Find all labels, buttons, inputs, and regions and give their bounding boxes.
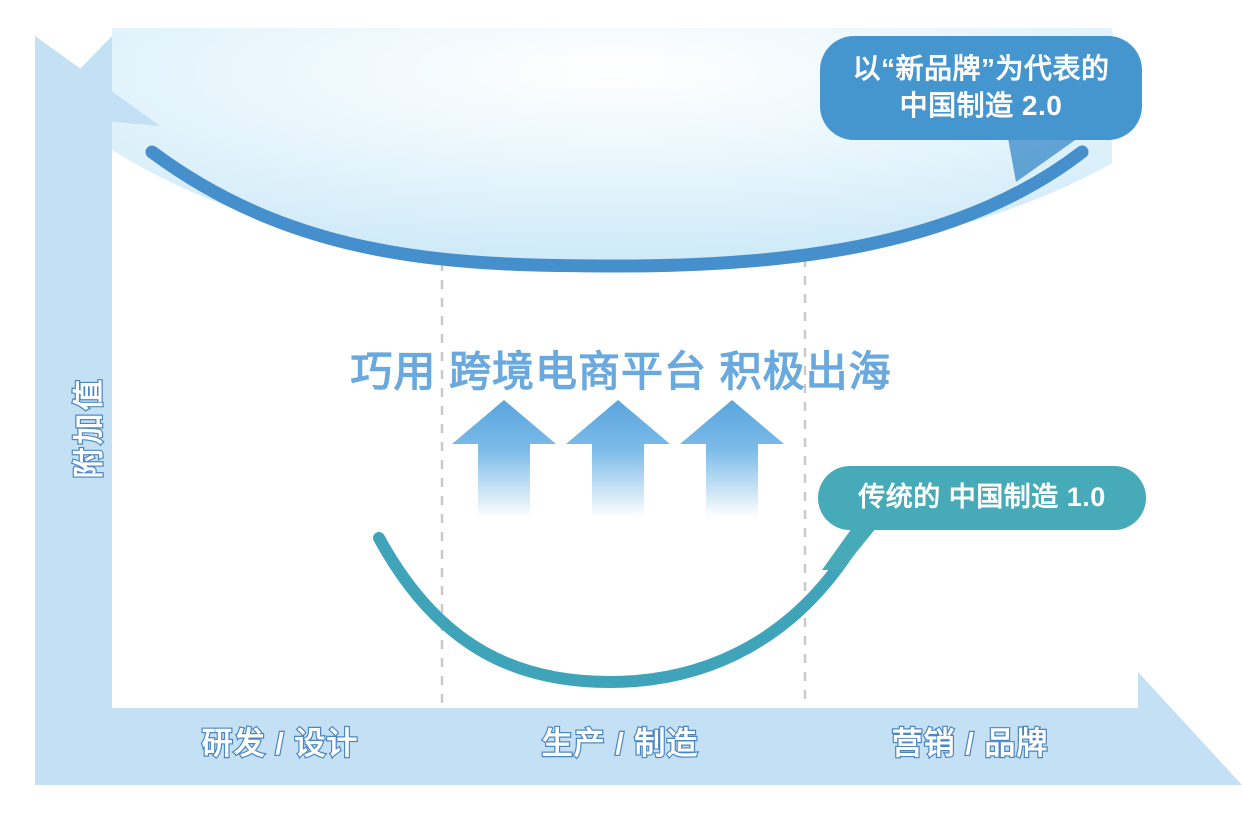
- callout-top-text: 以“新品牌”为代表的中国制造 2.0: [842, 51, 1120, 125]
- curve-china-manufacturing-1: [379, 530, 862, 682]
- x-axis-label-rd-design: 研发 / 设计: [150, 718, 410, 763]
- callout-china-manufacturing-2[interactable]: 以“新品牌”为代表的中国制造 2.0: [820, 36, 1142, 140]
- infographic-canvas: 以“新品牌”为代表的中国制造 2.0 传统的 中国制造 1.0 巧用 跨境电商平…: [0, 0, 1242, 831]
- growth-arrow-3: [680, 400, 784, 518]
- x-axis-arrow-head: [1138, 672, 1242, 785]
- growth-arrow-2: [566, 400, 670, 518]
- growth-arrow-1: [452, 400, 556, 518]
- y-axis-label-added-value: 附加值: [64, 333, 109, 523]
- callout-tail-bottom: [822, 528, 876, 570]
- headline-text: 巧用 跨境电商平台 积极出海: [0, 338, 1242, 399]
- growth-arrows: [452, 400, 784, 518]
- callout-bottom-text: 传统的 中国制造 1.0: [858, 480, 1106, 516]
- callout-china-manufacturing-1[interactable]: 传统的 中国制造 1.0: [818, 466, 1146, 530]
- x-axis-label-marketing-brand: 营销 / 品牌: [840, 718, 1100, 763]
- x-axis-label-production: 生产 / 制造: [490, 718, 750, 763]
